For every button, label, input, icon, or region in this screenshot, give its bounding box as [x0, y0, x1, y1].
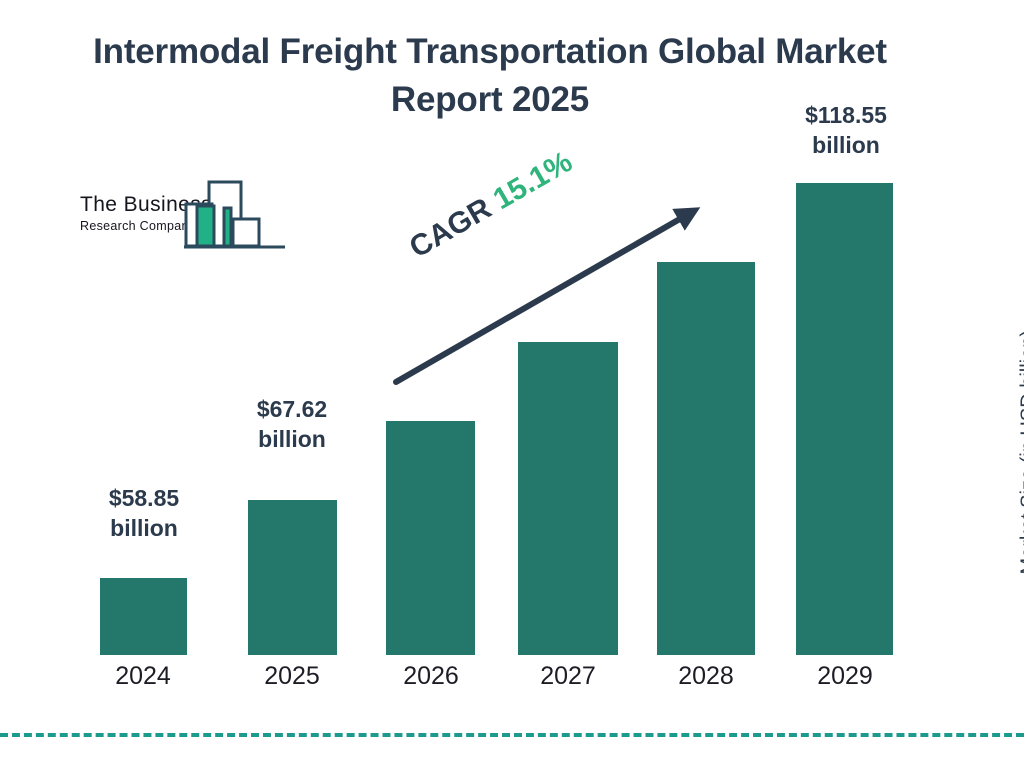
- chart-page: Intermodal Freight Transportation Global…: [0, 0, 1024, 768]
- x-axis-label-2024: 2024: [83, 662, 203, 691]
- bar-value-2025: $67.62 billion: [208, 394, 376, 455]
- x-axis-label-2025: 2025: [232, 662, 352, 691]
- y-axis-title: Market Size (in USD billion): [1018, 330, 1024, 575]
- bar-2024: [100, 578, 187, 655]
- x-axis-label-2027: 2027: [508, 662, 628, 691]
- bar-2025: [248, 500, 337, 655]
- x-axis-label-2028: 2028: [646, 662, 766, 691]
- bar-2029: [796, 183, 893, 655]
- x-axis-label-2029: 2029: [785, 662, 905, 691]
- bar-value-2029: $118.55 billion: [762, 100, 930, 161]
- footer-divider: [0, 733, 1024, 737]
- bar-chart-plot: $58.85 billion $67.62 billion $118.55 bi…: [0, 0, 1024, 768]
- bar-2026: [386, 421, 475, 655]
- x-axis-label-2026: 2026: [371, 662, 491, 691]
- bar-value-2024: $58.85 billion: [60, 483, 228, 544]
